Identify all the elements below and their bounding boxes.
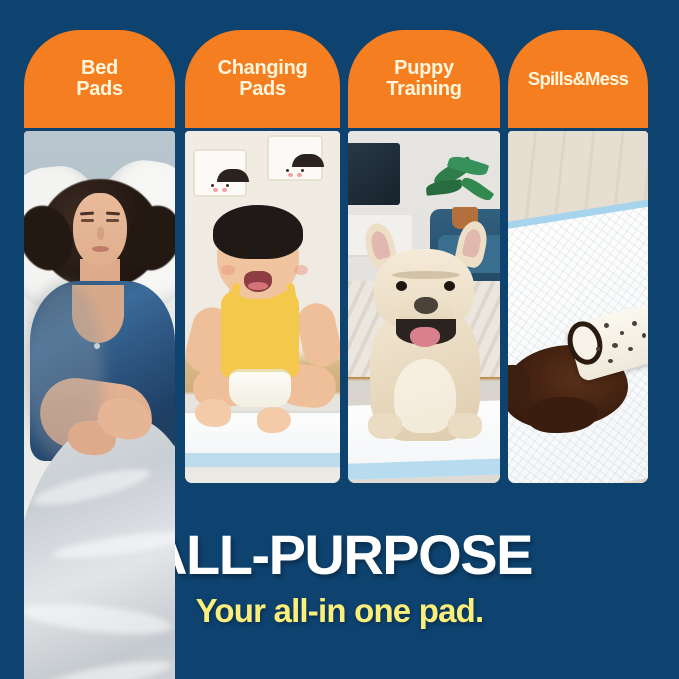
- feature-panels: Bed Pads: [0, 0, 679, 500]
- dog-paw-left: [368, 413, 402, 439]
- tab-puppy-training[interactable]: Puppy Training: [348, 30, 500, 128]
- photo-puppy-training: [348, 131, 500, 483]
- dog-tongue: [410, 327, 440, 347]
- dog-chest: [394, 359, 456, 433]
- television: [348, 143, 400, 205]
- photo-spills-mess: [508, 131, 648, 483]
- eye-left-closed: [81, 219, 94, 222]
- photo-changing-pads: [185, 131, 340, 483]
- mug-floral-dot: [620, 331, 624, 335]
- duvet-fold: [31, 462, 153, 512]
- baby-eye-right: [269, 247, 280, 258]
- baby-eye-left: [237, 247, 248, 258]
- tab-label-bed-pads: Bed Pads: [76, 58, 123, 100]
- dog-eye-left: [396, 281, 407, 291]
- mug-floral-dot: [596, 347, 600, 351]
- duvet-fold: [51, 526, 175, 563]
- mug-floral-dot: [642, 333, 646, 338]
- dog-nose: [414, 297, 438, 314]
- baby-foot-right: [257, 407, 291, 433]
- poster-eye: [301, 169, 304, 172]
- panel-puppy-training[interactable]: Puppy Training: [348, 30, 500, 483]
- mouth: [92, 246, 109, 252]
- photo-bed-pads: [24, 131, 175, 679]
- poster-cheek: [222, 188, 227, 192]
- baby-cheek-left: [221, 265, 235, 275]
- baby-cheek-right: [294, 265, 308, 275]
- baby-foot-left: [195, 399, 231, 427]
- duvet-fold: [24, 598, 173, 640]
- poster-cheek: [288, 173, 293, 177]
- tab-spills-mess[interactable]: Spills&Mess: [508, 30, 648, 128]
- mug-floral-dot: [608, 359, 613, 363]
- baby-diaper: [229, 369, 291, 407]
- poster-cheek: [213, 188, 218, 192]
- woman-face: [73, 193, 127, 267]
- panel-changing-pads[interactable]: Changing Pads: [185, 30, 340, 483]
- dog-forehead-wrinkle: [392, 271, 460, 279]
- mug-floral-dot: [604, 323, 609, 328]
- eye-right-closed: [106, 219, 119, 222]
- eyebrow-right: [106, 212, 120, 215]
- tab-label-puppy-training: Puppy Training: [386, 58, 461, 100]
- nursery-poster: [267, 135, 323, 181]
- poster-eye: [211, 184, 214, 187]
- panel-bed-pads[interactable]: Bed Pads: [24, 30, 175, 679]
- duvet-fold: [41, 655, 172, 679]
- tab-label-changing-pads: Changing Pads: [218, 58, 308, 100]
- nursery-poster: [193, 149, 247, 197]
- panel-spills-mess[interactable]: Spills&Mess: [508, 30, 648, 483]
- tab-bed-pads[interactable]: Bed Pads: [24, 30, 175, 128]
- baby-hair: [213, 205, 303, 259]
- tab-label-spills-mess: Spills&Mess: [528, 69, 628, 88]
- eyebrow-left: [80, 212, 94, 215]
- mug-floral-dot: [628, 347, 633, 351]
- poster-eye: [226, 184, 229, 187]
- tab-changing-pads[interactable]: Changing Pads: [185, 30, 340, 128]
- dog-eye-right: [444, 281, 455, 291]
- dog-paw-right: [448, 413, 482, 439]
- nose: [97, 227, 104, 240]
- poster-eye: [286, 169, 289, 172]
- mug-floral-dot: [612, 343, 618, 348]
- baby-smiling-mouth: [244, 271, 272, 292]
- mug-floral-dot: [632, 321, 637, 326]
- poster-cheek: [297, 173, 302, 177]
